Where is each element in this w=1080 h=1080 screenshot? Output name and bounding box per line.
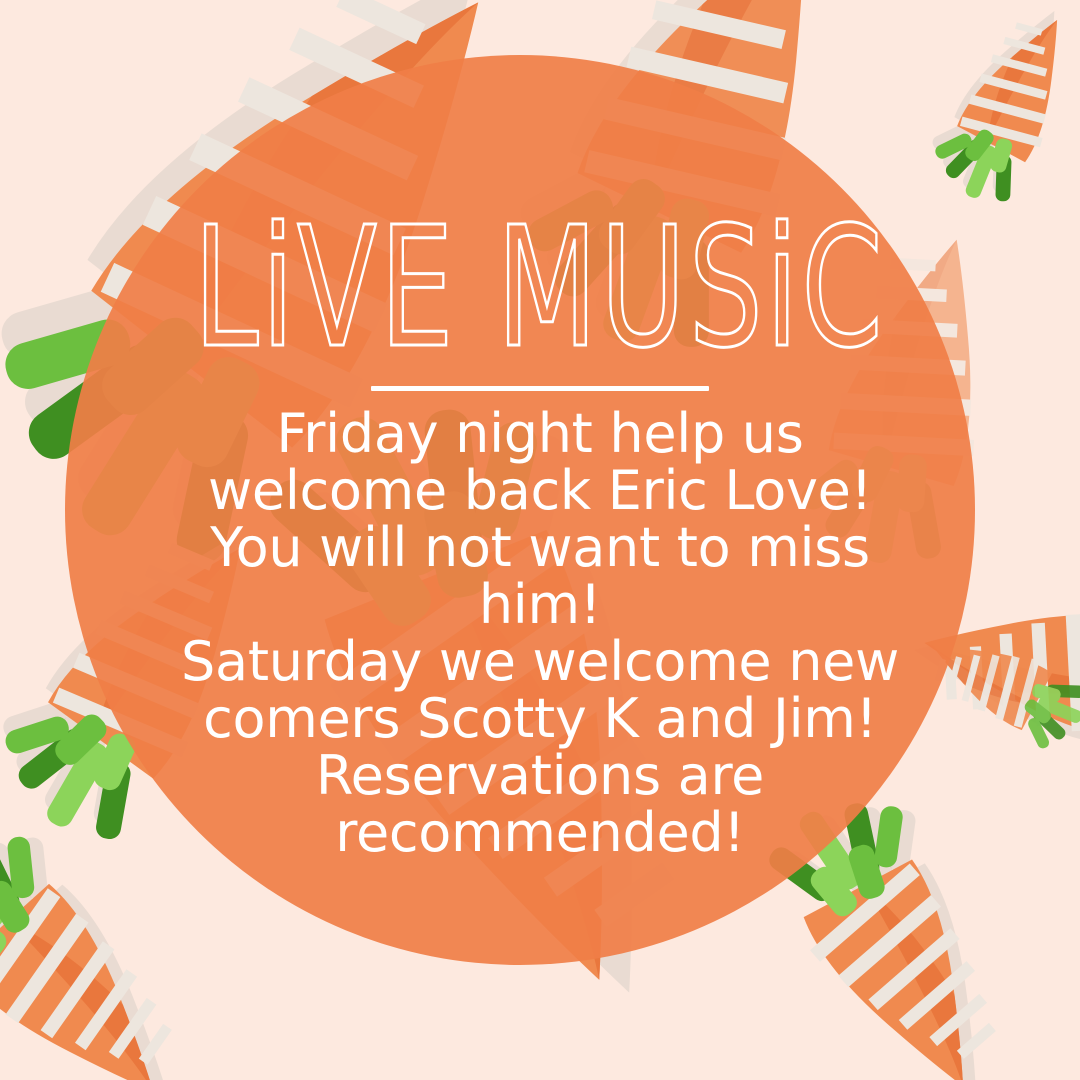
poster-canvas: LiVE MUSiC Friday night help us welcome …	[0, 0, 1080, 1080]
carrot-bottom-left	[0, 799, 225, 1080]
orange-circle-backdrop	[65, 55, 975, 965]
carrot-top-right-small	[915, 0, 1080, 215]
